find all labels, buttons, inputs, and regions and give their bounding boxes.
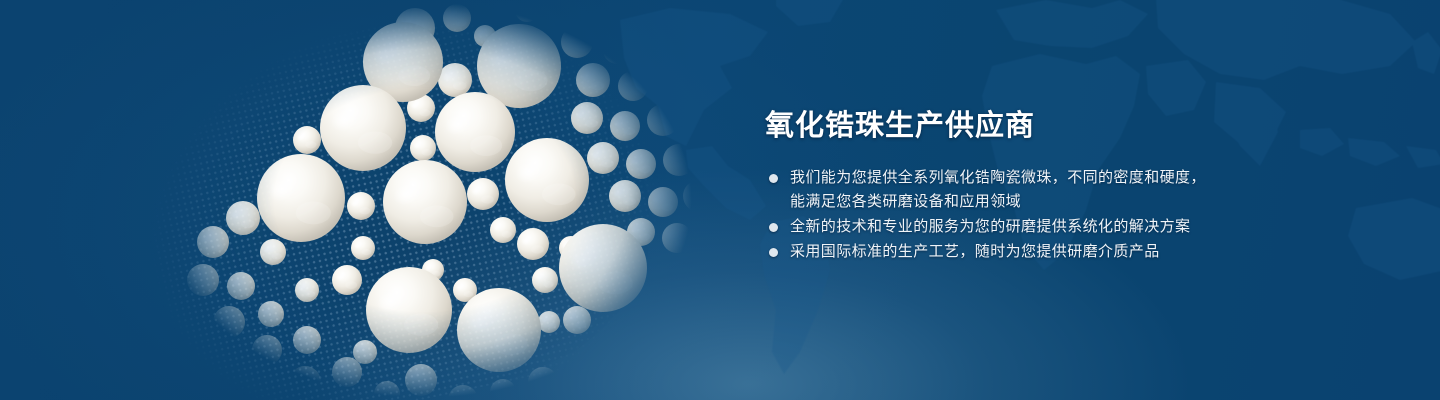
list-item-line: 能满足您各类研磨设备和应用领域 bbox=[790, 190, 1405, 214]
bullet-dot-icon bbox=[769, 248, 778, 257]
list-item-line: 我们能为您提供全系列氧化锆陶瓷微珠，不同的密度和硬度， bbox=[790, 166, 1405, 190]
list-item: 我们能为您提供全系列氧化锆陶瓷微珠，不同的密度和硬度， 能满足您各类研磨设备和应… bbox=[765, 166, 1405, 214]
page-title: 氧化锆珠生产供应商 bbox=[765, 108, 1405, 144]
hero-banner: 氧化锆珠生产供应商 我们能为您提供全系列氧化锆陶瓷微珠，不同的密度和硬度， 能满… bbox=[0, 0, 1440, 400]
list-item: 全新的技术和专业的服务为您的研磨提供系统化的解决方案 bbox=[765, 215, 1405, 239]
bullet-dot-icon bbox=[769, 223, 778, 232]
banner-copy: 氧化锆珠生产供应商 我们能为您提供全系列氧化锆陶瓷微珠，不同的密度和硬度， 能满… bbox=[765, 108, 1405, 265]
list-item-line: 全新的技术和专业的服务为您的研磨提供系统化的解决方案 bbox=[790, 215, 1405, 239]
feature-list: 我们能为您提供全系列氧化锆陶瓷微珠，不同的密度和硬度， 能满足您各类研磨设备和应… bbox=[765, 166, 1405, 264]
list-item-line: 采用国际标准的生产工艺，随时为您提供研磨介质产品 bbox=[790, 240, 1405, 264]
bullet-dot-icon bbox=[769, 174, 778, 183]
list-item: 采用国际标准的生产工艺，随时为您提供研磨介质产品 bbox=[765, 240, 1405, 264]
